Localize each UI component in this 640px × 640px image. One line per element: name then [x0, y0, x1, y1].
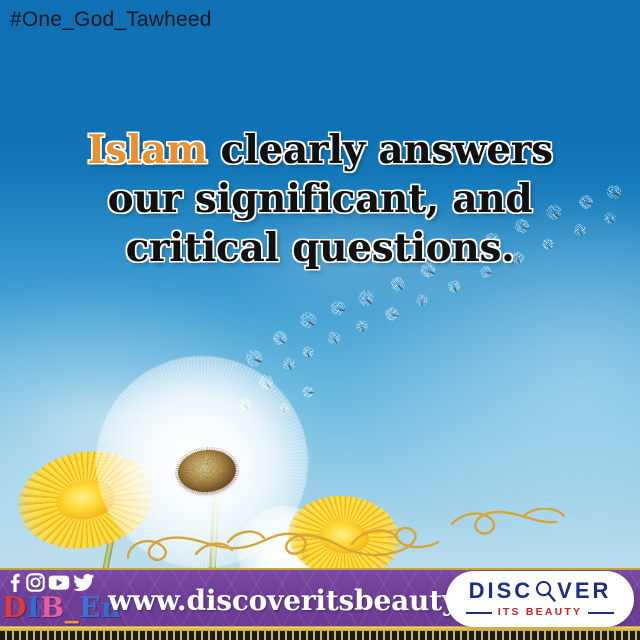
logo-tagline: ITS BEAUTY — [498, 607, 582, 618]
brand-letter-i: I — [27, 591, 41, 624]
dandelion-seed — [300, 344, 316, 360]
dandelion-seed — [414, 292, 430, 308]
brand-letter-underscore: _ — [65, 591, 80, 624]
footer-bar: DIB_En www.discoveritsbeauty.com DISC VE… — [0, 564, 640, 640]
dandelion-seed — [389, 275, 406, 292]
headline-line-3: critical questions. — [0, 224, 640, 273]
dandelion-seed — [300, 384, 316, 400]
headline-accent-word: Islam — [87, 127, 207, 173]
brand-letter-d: D — [2, 591, 27, 624]
brand-letter-b: B — [40, 591, 64, 624]
logo-word-part1: DISC — [469, 580, 534, 602]
headline-line-1-rest: clearly answers — [207, 127, 553, 173]
dandelion-seed — [325, 329, 342, 346]
headline-block: Islam clearly answers our significant, a… — [0, 126, 640, 273]
logo-rule-left — [466, 612, 492, 614]
brand-logo-dib-en[interactable]: DIB_En — [2, 594, 122, 622]
dandelion-seed — [357, 289, 375, 307]
footer-dashed-strip — [0, 631, 640, 640]
dandelion-seed — [272, 330, 288, 346]
facebook-icon[interactable] — [6, 573, 23, 592]
youtube-icon[interactable] — [48, 573, 70, 592]
dandelion-seed — [354, 318, 370, 334]
magnifying-glass-icon — [534, 580, 556, 602]
brand-letter-e: E — [79, 591, 101, 624]
discover-its-beauty-logo[interactable]: DISC VER ITS BEAUTY — [446, 571, 634, 627]
dandelion-seed — [299, 311, 316, 328]
social-icons-row[interactable] — [6, 573, 95, 592]
headline-line-1: Islam clearly answers — [0, 126, 640, 175]
logo-tagline-row: ITS BEAUTY — [466, 607, 614, 618]
poster-image: #One_God_Tawheed Islam clearly answers o… — [0, 0, 640, 640]
logo-word-part2: VER — [557, 580, 611, 602]
logo-rule-right — [588, 612, 614, 614]
dandelion-seed — [245, 349, 264, 368]
dandelion-seed — [329, 299, 346, 316]
logo-wordmark: DISC VER — [469, 580, 612, 602]
twitter-icon[interactable] — [73, 573, 95, 592]
hashtag-text: #One_God_Tawheed — [10, 8, 212, 32]
dandelion-seed — [446, 278, 463, 295]
instagram-icon[interactable] — [26, 573, 45, 592]
headline-line-2: our significant, and — [0, 175, 640, 224]
dandelion-seed — [384, 306, 401, 323]
dandelion-seed — [280, 355, 297, 372]
dandelion-scene — [0, 0, 640, 640]
